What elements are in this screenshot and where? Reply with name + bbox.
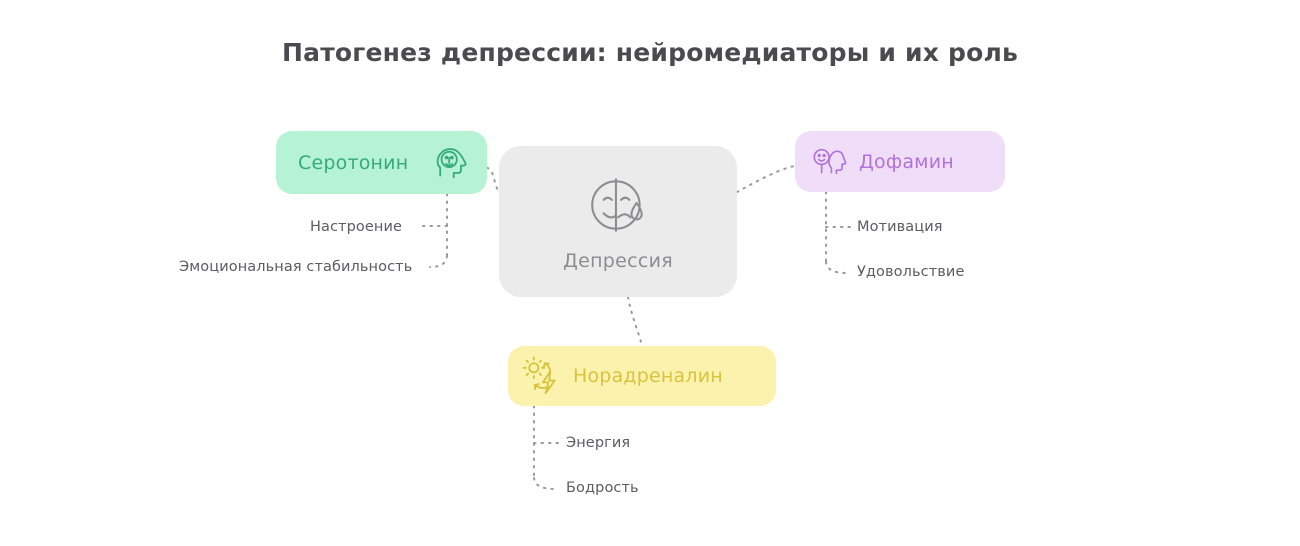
- node-serotonin-label: Серотонин: [298, 152, 408, 174]
- sub-label-dopamine-motivation: Мотивация: [857, 219, 943, 235]
- sub-label-serotonin-emotional-stability: Эмоциональная стабильность: [179, 259, 412, 275]
- sub-label-noradrenaline-energy: Энергия: [566, 435, 630, 451]
- central-node-label: Депрессия: [563, 250, 673, 272]
- half-happy-half-sad-face-icon: [585, 172, 651, 238]
- node-dopamine[interactable]: Дофамин: [795, 131, 1005, 192]
- node-serotonin[interactable]: Серотонин: [276, 131, 487, 194]
- sub-label-noradrenaline-vigor: Бодрость: [566, 480, 639, 496]
- node-noradrenaline-label: Норадреналин: [573, 365, 723, 387]
- sub-label-serotonin-mood: Настроение: [310, 219, 402, 235]
- central-node-depression[interactable]: Депрессия: [499, 146, 737, 297]
- connector-central-noradrenaline: [628, 297, 642, 346]
- node-noradrenaline[interactable]: Норадреналин: [508, 346, 776, 406]
- connector-central-dopamine: [737, 166, 795, 192]
- sun-and-lightning-bolt-icon: [522, 356, 562, 396]
- node-dopamine-label: Дофамин: [859, 151, 954, 173]
- connector-dopamine-pleasure: [826, 262, 847, 273]
- connector-serotonin-emotional: [430, 256, 447, 267]
- diagram-canvas: Патогенез депрессии: нейромедиаторы и их…: [0, 0, 1300, 546]
- smiley-head-profile-icon: [811, 144, 847, 180]
- head-with-smiley-face-icon: [433, 145, 469, 181]
- sub-label-dopamine-pleasure: Удовольствие: [857, 264, 964, 280]
- connector-central-serotonin: [487, 168, 499, 192]
- connector-noradrenaline-vigor: [534, 478, 556, 489]
